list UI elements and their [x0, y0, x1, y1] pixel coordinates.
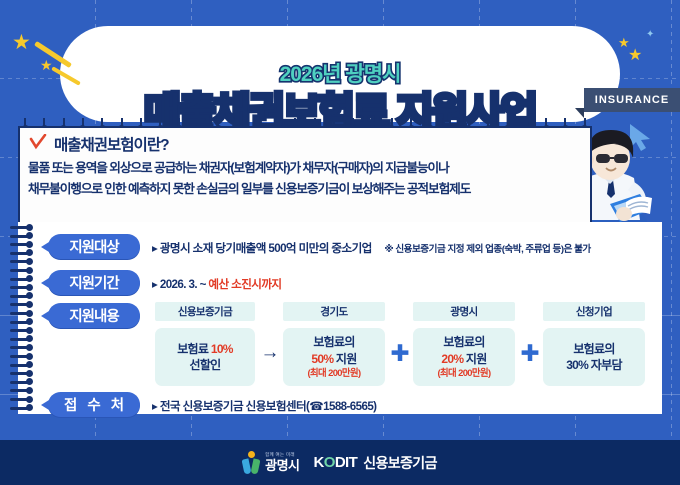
- support-box-2-suffix: 지원: [463, 352, 486, 366]
- kodit-o: O: [324, 454, 335, 471]
- support-box-2-percent: 20%: [441, 352, 463, 366]
- support-target-value: 광명시 소재 당기매출액 500억 미만의 중소기업: [160, 242, 372, 255]
- label-contact: 접 수 처: [48, 392, 140, 417]
- arrow-operator: →: [259, 340, 281, 366]
- spiral-coil: [10, 364, 32, 367]
- spiral-coil: [10, 243, 32, 246]
- support-box-0-line1: 보험료 10%: [177, 341, 233, 357]
- support-target-text: ▸ 광명시 소재 당기매출액 500억 미만의 중소기업 ※ 신용보증기금 지정…: [152, 240, 591, 256]
- spiral-coil: [10, 346, 32, 349]
- kodit-mark-icon: KODIT: [314, 454, 358, 471]
- insurance-badge: INSURANCE: [584, 88, 680, 112]
- support-box-2-line1: 보험료의: [443, 334, 484, 350]
- bullet-icon: ▸: [152, 242, 157, 255]
- spiral-coil: [10, 278, 32, 281]
- spiral-coil: [10, 269, 32, 272]
- explanation-card: 매출채권보험이란? 물품 또는 용역을 외상으로 공급하는 채권자(보험계약자)…: [18, 126, 592, 224]
- support-box-0: 보험료 10% 선할인: [155, 328, 255, 386]
- spiral-binding-left: [10, 222, 32, 414]
- support-box-3-line1: 보험료의: [573, 341, 614, 357]
- spiral-coil: [10, 381, 32, 384]
- spiral-coil: [10, 312, 32, 315]
- contact-text: ▸ 전국 신용보증기금 신용보험센터(☎1588-6565): [152, 398, 376, 414]
- bullet-icon: ▸: [152, 278, 157, 291]
- support-box-header-3: 신청기업: [543, 302, 645, 321]
- support-box-0-label: 보험료: [177, 342, 211, 356]
- spiral-coil: [10, 235, 32, 238]
- contact-value: 전국 신용보증기금 신용보험센터(☎1588-6565): [160, 400, 377, 413]
- kodit-dit: DIT: [335, 454, 357, 471]
- footer-bar: 함께 여는 미래 광명시 KODIT 신용보증기금: [0, 440, 680, 485]
- spiral-coil: [10, 260, 32, 263]
- bullet-icon: ▸: [152, 400, 157, 413]
- label-support-content: 지원내용: [48, 303, 140, 328]
- support-box-1-line2: 50% 지원: [311, 351, 356, 367]
- support-box-0-line2: 선할인: [189, 357, 220, 373]
- plus-operator-2: ✚: [519, 340, 541, 366]
- support-box-3: 보험료의 30% 자부담: [543, 328, 645, 386]
- support-box-header-0: 신용보증기금: [155, 302, 255, 321]
- logo-gwangmyeong: 함께 여는 미래 광명시: [243, 451, 299, 475]
- support-box-header-2: 광명시: [413, 302, 515, 321]
- label-support-target: 지원대상: [48, 234, 140, 259]
- support-period-highlight: 예산 소진시까지: [208, 278, 281, 291]
- support-box-2-line2: 20% 지원: [441, 351, 486, 367]
- support-box-1-percent: 50%: [311, 352, 333, 366]
- star-icon: ★: [628, 48, 642, 64]
- header-banner: 2026년 광명시 매출채권보험료 지원사업: [60, 26, 620, 122]
- support-box-0-percent: 10%: [211, 342, 233, 356]
- spiral-coil: [10, 329, 32, 332]
- label-support-period: 지원기간: [48, 270, 140, 295]
- support-box-3-percent: 30%: [566, 358, 588, 372]
- spiral-coil: [10, 226, 32, 229]
- spiral-coil: [10, 372, 32, 375]
- spiral-coil: [10, 389, 32, 392]
- logo-kodit: KODIT 신용보증기금: [314, 453, 437, 473]
- kodit-name: 신용보증기금: [363, 453, 437, 473]
- check-icon: [29, 134, 47, 150]
- spiral-coil: [10, 338, 32, 341]
- explanation-title: 매출채권보험이란?: [54, 133, 169, 155]
- support-box-3-line2: 30% 자부담: [566, 357, 622, 373]
- spiral-coil: [10, 398, 32, 401]
- sparkle-icon: ✦: [646, 30, 654, 40]
- poster-root: 2026년 광명시 매출채권보험료 지원사업 ★ ★ ★ ★ ✦ INSURAN…: [0, 0, 680, 485]
- support-box-1-suffix: 지원: [333, 352, 356, 366]
- explanation-body: 물품 또는 용역을 외상으로 공급하는 채권자(보험계약자)가 채무자(구매자)…: [28, 158, 582, 199]
- support-box-1-line1: 보험료의: [313, 334, 354, 350]
- support-box-1-amount: (최대 200만원): [308, 367, 361, 380]
- spiral-coil: [10, 252, 32, 255]
- support-target-note: ※ 신용보증기금 지정 제외 업종(숙박, 주류업 등)은 불가: [384, 244, 590, 255]
- spiral-coil: [10, 321, 32, 324]
- spiral-coil: [10, 407, 32, 410]
- support-box-header-1: 경기도: [283, 302, 385, 321]
- spiral-coil: [10, 303, 32, 306]
- support-period-value: 2026. 3. ~: [160, 278, 209, 291]
- explanation-line-2: 채무불이행으로 인한 예측하지 못한 손실금의 일부를 신용보증기금이 보상해주…: [28, 179, 582, 200]
- gwangmyeong-mark-icon: [243, 451, 260, 475]
- spiral-coil: [10, 286, 32, 289]
- support-period-text: ▸ 2026. 3. ~ 예산 소진시까지: [152, 276, 281, 292]
- support-box-1: 보험료의 50% 지원 (최대 200만원): [283, 328, 385, 386]
- kodit-k: K: [314, 454, 324, 471]
- explanation-line-1: 물품 또는 용역을 외상으로 공급하는 채권자(보험계약자)가 채무자(구매자)…: [28, 158, 582, 179]
- support-box-3-suffix: 자부담: [588, 358, 622, 372]
- spiral-coil: [10, 355, 32, 358]
- support-box-2: 보험료의 20% 지원 (최대 200만원): [413, 328, 515, 386]
- star-icon: ★: [12, 32, 31, 53]
- plus-operator-1: ✚: [389, 340, 411, 366]
- spiral-coil: [10, 295, 32, 298]
- star-icon: ★: [40, 58, 53, 72]
- gwangmyeong-name: 광명시: [265, 459, 299, 472]
- support-box-2-amount: (최대 200만원): [438, 367, 491, 380]
